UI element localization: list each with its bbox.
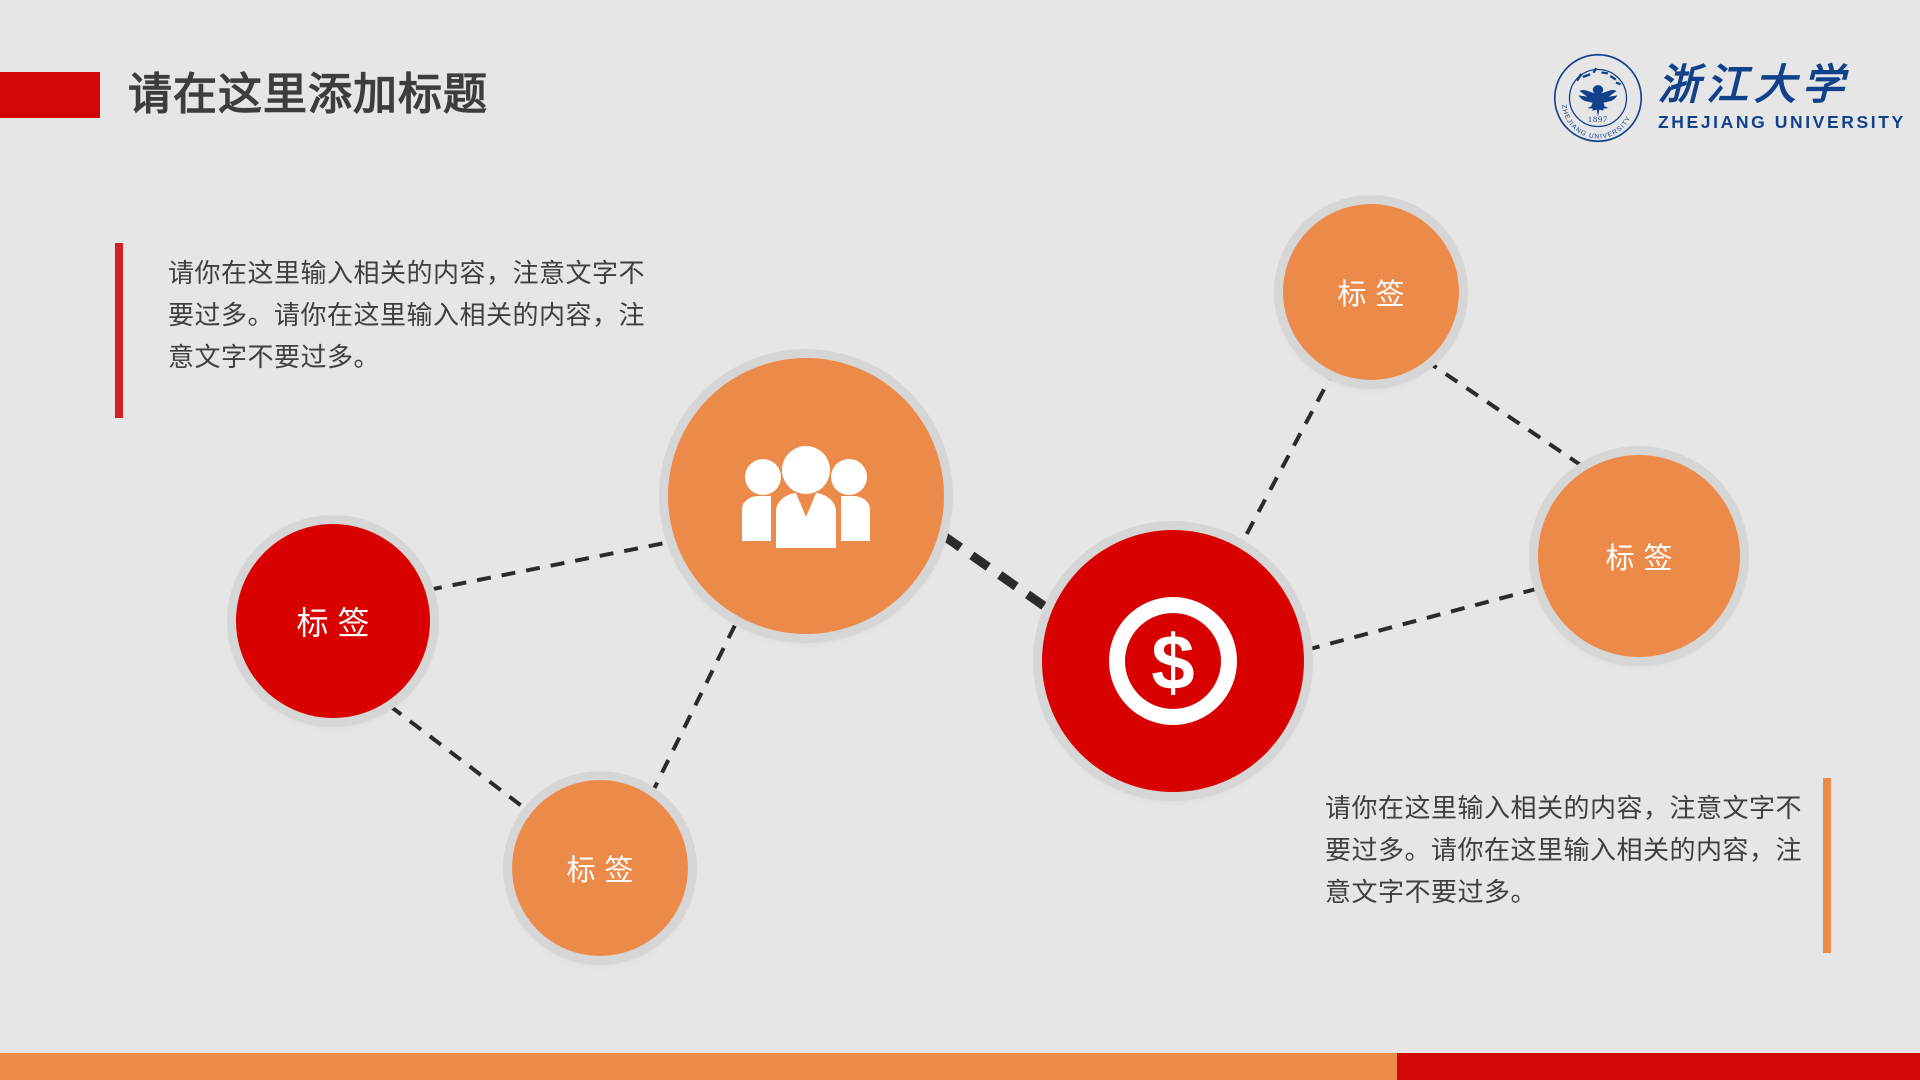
connector-leftred-hubteam (428, 540, 680, 590)
node-label-left[interactable]: 标签 (236, 524, 430, 718)
node-label-top-right[interactable]: 标签 (1283, 204, 1459, 380)
node-label-text: 标签 (557, 847, 642, 889)
node-label-text: 标签 (1328, 271, 1413, 313)
footer-bar-orange (0, 1053, 1397, 1080)
connector-hubmoney-right (1306, 589, 1536, 650)
presentation-slide: 请在这里添加标题 ZHEJIANG UNIVERSITY (0, 0, 1920, 1080)
node-hub-team[interactable] (668, 358, 944, 634)
left-body-text: 请你在这里输入相关的内容，注意文字不要过多。请你在这里输入相关的内容，注意文字不… (168, 252, 668, 378)
connector-hubteam-hubmoney (944, 536, 1064, 620)
people-group-icon (736, 444, 876, 548)
footer-bar-red (1397, 1053, 1920, 1080)
left-text-accent-bar (115, 243, 123, 418)
connector-topright-right (1425, 360, 1588, 470)
connector-leftred-bottom (390, 706, 527, 810)
footer-bar (0, 1053, 1920, 1080)
dollar-coin-icon: $ (1109, 597, 1237, 725)
node-label-bottom[interactable]: 标签 (512, 780, 688, 956)
right-body-text: 请你在这里输入相关的内容，注意文字不要过多。请你在这里输入相关的内容，注意文字不… (1325, 787, 1825, 913)
node-label-right[interactable]: 标签 (1538, 455, 1740, 657)
svg-text:$: $ (1151, 618, 1194, 706)
node-label-text: 标签 (287, 598, 378, 644)
connector-hubmoney-topright (1235, 378, 1330, 556)
node-hub-money[interactable]: $ (1042, 530, 1304, 792)
connector-bottom-hubteam (651, 617, 739, 795)
node-label-text: 标签 (1596, 535, 1681, 577)
